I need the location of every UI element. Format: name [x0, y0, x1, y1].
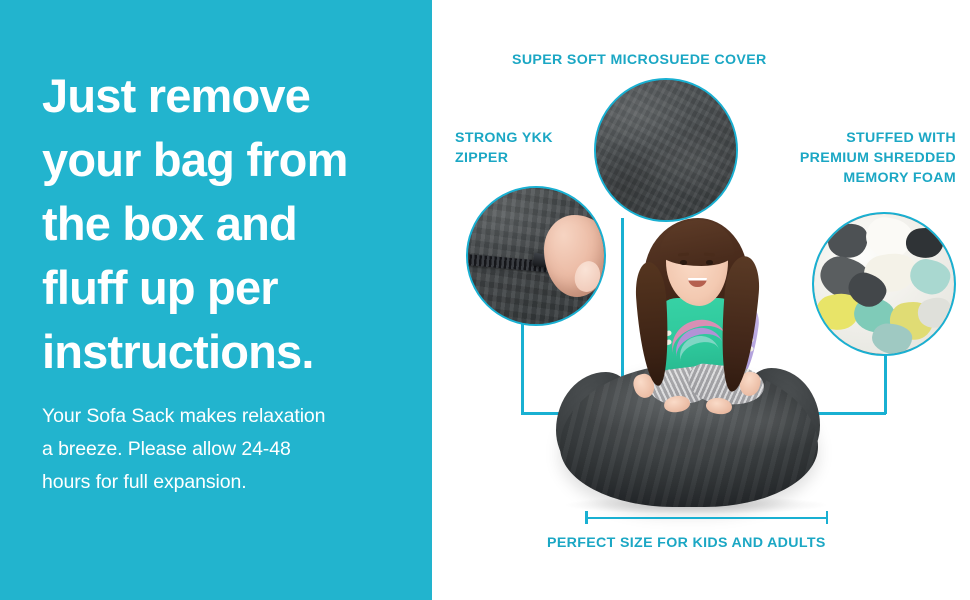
- callout-foam-line-2: PREMIUM SHREDDED: [786, 148, 956, 168]
- headline-line-1: Just remove: [42, 64, 414, 128]
- connector-line-foam-vertical: [884, 352, 887, 414]
- child-model: [622, 216, 774, 436]
- left-teal-panel: Just remove your bag from the box and fl…: [0, 0, 432, 600]
- size-measurement-bar: [585, 517, 828, 520]
- size-bar-cap-right: [826, 511, 829, 524]
- callout-label-ykk-zipper: STRONG YKK ZIPPER: [455, 128, 553, 168]
- callout-cover-line-1: SUPER SOFT MICROSUEDE COVER: [512, 50, 767, 70]
- connector-line-zipper-vertical: [521, 322, 524, 414]
- callout-zipper-line-2: ZIPPER: [455, 148, 553, 168]
- microsuede-texture: [596, 80, 736, 220]
- callout-zipper-line-1: STRONG YKK: [455, 128, 553, 148]
- body-line-1: Your Sofa Sack makes relaxation: [42, 400, 422, 433]
- callout-foam-line-3: MEMORY FOAM: [786, 168, 956, 188]
- eye-right: [706, 260, 713, 265]
- callout-label-memory-foam: STUFFED WITH PREMIUM SHREDDED MEMORY FOA…: [786, 128, 956, 188]
- body-line-2: a breeze. Please allow 24-48: [42, 433, 422, 466]
- headline-line-3: the box and: [42, 192, 414, 256]
- body-line-3: hours for full expansion.: [42, 466, 422, 499]
- headline: Just remove your bag from the box and fl…: [42, 64, 414, 384]
- callout-label-microsuede-cover: SUPER SOFT MICROSUEDE COVER: [512, 50, 767, 70]
- size-bar-cap-left: [585, 511, 588, 524]
- eye-left: [680, 260, 687, 265]
- headline-line-5: instructions.: [42, 320, 414, 384]
- detail-circle-memory-foam: [812, 212, 956, 356]
- size-caption: PERFECT SIZE FOR KIDS AND ADULTS: [547, 533, 826, 553]
- callout-foam-line-1: STUFFED WITH: [786, 128, 956, 148]
- detail-circle-zipper: [466, 186, 606, 326]
- product-infographic: Just remove your bag from the box and fl…: [0, 0, 970, 600]
- headline-line-4: fluff up per: [42, 256, 414, 320]
- detail-circle-microsuede: [594, 78, 738, 222]
- body-copy: Your Sofa Sack makes relaxation a breeze…: [42, 400, 422, 499]
- headline-line-2: your bag from: [42, 128, 414, 192]
